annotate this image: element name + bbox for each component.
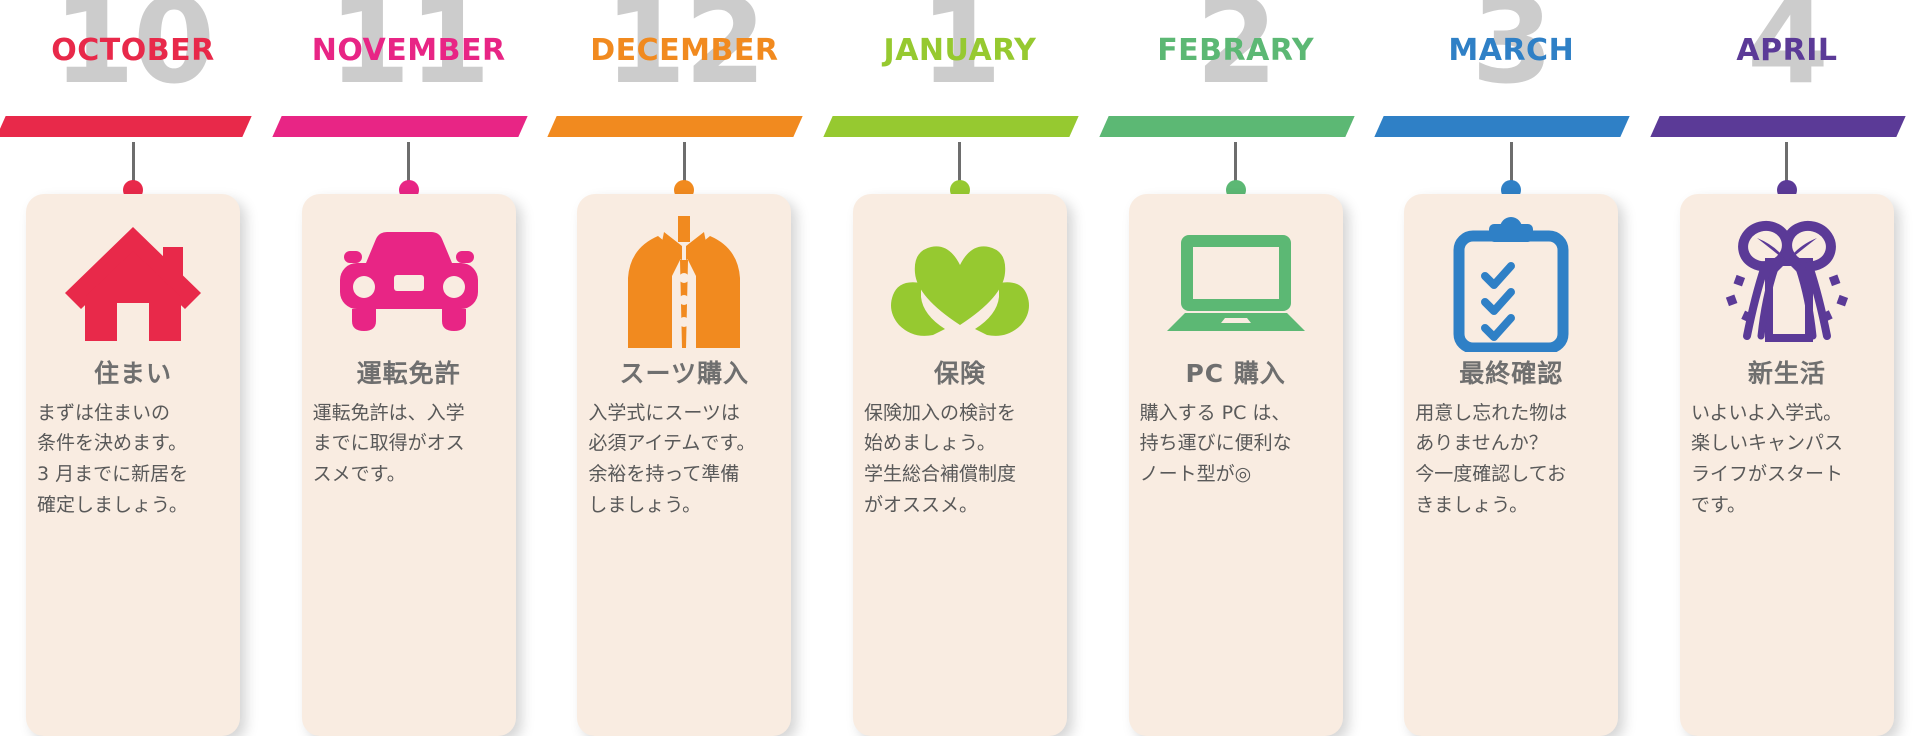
step-header: 10OCTOBER [8, 0, 258, 108]
timeline-step-6: 3MARCH最終確認用意し忘れた物はありませんか？今一度確認しておきましょう。 [1386, 0, 1636, 736]
card-body-line: まずは住まいの [37, 398, 229, 429]
step-color-bar [548, 116, 803, 137]
card-body-line: 楽しいキャンパス [1691, 428, 1883, 459]
card-body: 購入する PC は、持ち運びに便利なノート型が◎ [1140, 398, 1332, 490]
timeline-step-3: 12DECEMBERスーツ購入入学式にスーツは必須アイテムです。余裕を持って準備… [559, 0, 809, 736]
card-body-line: ライフがスタート [1691, 459, 1883, 490]
step-color-bar [1375, 116, 1630, 137]
step-color-bar [823, 116, 1078, 137]
card-body-line: ありませんか？ [1415, 428, 1607, 459]
house-icon [58, 216, 208, 352]
heart-hands-icon [885, 216, 1035, 352]
card-body-line: 入学式にスーツは [588, 398, 780, 429]
step-header: 4APRIL [1662, 0, 1912, 108]
card-title: 住まい [94, 360, 172, 388]
card-body: いよいよ入学式。楽しいキャンパスライフがスタートです。 [1691, 398, 1883, 521]
laptop-icon [1161, 216, 1311, 352]
step-color-bar [1099, 116, 1354, 137]
card-body-line: 3 月までに新居を [37, 459, 229, 490]
step-bar-wrap [8, 108, 258, 142]
card-body-line: スメです。 [313, 459, 505, 490]
month-name: MARCH [1386, 36, 1636, 66]
step-connector [1111, 142, 1361, 194]
step-header: 3MARCH [1386, 0, 1636, 108]
step-connector [8, 142, 258, 194]
step-bar-wrap [1386, 108, 1636, 142]
step-connector [559, 142, 809, 194]
card-body-line: ノート型が◎ [1140, 459, 1332, 490]
card-body-line: 持ち運びに便利な [1140, 428, 1332, 459]
card-body-line: きましょう。 [1415, 490, 1607, 521]
step-card[interactable]: PC 購入購入する PC は、持ち運びに便利なノート型が◎ [1129, 194, 1343, 736]
step-bar-wrap [1662, 108, 1912, 142]
month-name: APRIL [1662, 36, 1912, 66]
card-body-line: がオススメ。 [864, 490, 1056, 521]
card-body-line: までに取得がオス [313, 428, 505, 459]
card-body-line: 運転免許は、入学 [313, 398, 505, 429]
step-connector [1662, 142, 1912, 194]
card-body-line: 保険加入の検討を [864, 398, 1056, 429]
step-card[interactable]: 運転免許運転免許は、入学までに取得がオススメです。 [302, 194, 516, 736]
step-card[interactable]: 最終確認用意し忘れた物はありませんか？今一度確認しておきましょう。 [1404, 194, 1618, 736]
celebration-gift-icon [1712, 216, 1862, 352]
step-header: 1JANUARY [835, 0, 1085, 108]
card-body-line: 必須アイテムです。 [588, 428, 780, 459]
step-card[interactable]: 保険保険加入の検討を始めましょう。学生総合補償制度がオススメ。 [853, 194, 1067, 736]
timeline-step-5: 2FEBRARYPC 購入購入する PC は、持ち運びに便利なノート型が◎ [1111, 0, 1361, 736]
card-title: スーツ購入 [620, 360, 750, 388]
card-body-line: しましょう。 [588, 490, 780, 521]
month-name: JANUARY [835, 36, 1085, 66]
step-header: 12DECEMBER [559, 0, 809, 108]
card-title: 保険 [934, 360, 986, 388]
card-title: 新生活 [1748, 360, 1826, 388]
step-bar-wrap [559, 108, 809, 142]
card-body-line: 条件を決めます。 [37, 428, 229, 459]
step-connector [284, 142, 534, 194]
timeline-step-7: 4APRIL新生活いよいよ入学式。楽しいキャンパスライフがスタートです。 [1662, 0, 1912, 736]
suit-icon [609, 216, 759, 352]
month-name: OCTOBER [8, 36, 258, 66]
step-bar-wrap [1111, 108, 1361, 142]
step-color-bar [1650, 116, 1905, 137]
clipboard-check-icon [1436, 216, 1586, 352]
step-color-bar [272, 116, 527, 137]
step-bar-wrap [284, 108, 534, 142]
card-body-line: 用意し忘れた物は [1415, 398, 1607, 429]
card-body-line: 余裕を持って準備 [588, 459, 780, 490]
month-name: NOVEMBER [284, 36, 534, 66]
card-body-line: です。 [1691, 490, 1883, 521]
infographic-timeline: 10OCTOBER住まいまずは住まいの条件を決めます。3 月までに新居を確定しま… [0, 0, 1920, 736]
card-body: 入学式にスーツは必須アイテムです。余裕を持って準備しましょう。 [588, 398, 780, 521]
step-connector [835, 142, 1085, 194]
card-body: 運転免許は、入学までに取得がオススメです。 [313, 398, 505, 490]
card-body: 用意し忘れた物はありませんか？今一度確認しておきましょう。 [1415, 398, 1607, 521]
month-name: DECEMBER [559, 36, 809, 66]
step-header: 2FEBRARY [1111, 0, 1361, 108]
card-body-line: いよいよ入学式。 [1691, 398, 1883, 429]
step-card[interactable]: 住まいまずは住まいの条件を決めます。3 月までに新居を確定しましょう。 [26, 194, 240, 736]
card-title: PC 購入 [1185, 360, 1285, 388]
month-name: FEBRARY [1111, 36, 1361, 66]
step-bar-wrap [835, 108, 1085, 142]
card-body-line: 購入する PC は、 [1140, 398, 1332, 429]
step-header: 11NOVEMBER [284, 0, 534, 108]
step-color-bar [0, 116, 252, 137]
timeline-step-4: 1JANUARY保険保険加入の検討を始めましょう。学生総合補償制度がオススメ。 [835, 0, 1085, 736]
card-body: まずは住まいの条件を決めます。3 月までに新居を確定しましょう。 [37, 398, 229, 521]
card-body-line: 始めましょう。 [864, 428, 1056, 459]
card-body-line: 学生総合補償制度 [864, 459, 1056, 490]
card-body: 保険加入の検討を始めましょう。学生総合補償制度がオススメ。 [864, 398, 1056, 521]
step-connector [1386, 142, 1636, 194]
timeline-step-2: 11NOVEMBER運転免許運転免許は、入学までに取得がオススメです。 [284, 0, 534, 736]
step-card[interactable]: 新生活いよいよ入学式。楽しいキャンパスライフがスタートです。 [1680, 194, 1894, 736]
timeline-track: 10OCTOBER住まいまずは住まいの条件を決めます。3 月までに新居を確定しま… [0, 0, 1920, 736]
card-body-line: 今一度確認してお [1415, 459, 1607, 490]
step-card[interactable]: スーツ購入入学式にスーツは必須アイテムです。余裕を持って準備しましょう。 [577, 194, 791, 736]
card-title: 最終確認 [1459, 360, 1563, 388]
timeline-step-1: 10OCTOBER住まいまずは住まいの条件を決めます。3 月までに新居を確定しま… [8, 0, 258, 736]
card-body-line: 確定しましょう。 [37, 490, 229, 521]
car-icon [334, 216, 484, 352]
card-title: 運転免許 [357, 360, 461, 388]
